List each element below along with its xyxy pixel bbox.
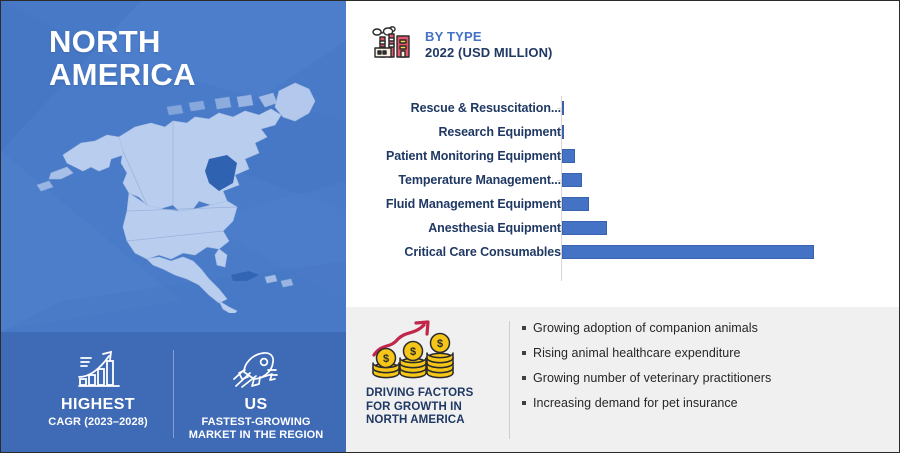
bar-value[interactable]: [562, 221, 607, 235]
bar-row: Critical Care Consumables: [346, 240, 899, 264]
list-item: Growing adoption of companion animals: [522, 321, 882, 346]
bar-value[interactable]: [562, 245, 814, 259]
bullet-square-icon: [522, 376, 526, 380]
stat-subline: FASTEST-GROWING MARKET IN THE REGION: [176, 416, 336, 442]
stats-divider: [173, 350, 174, 438]
driving-factors-list: Growing adoption of companion animals Ri…: [522, 321, 882, 421]
list-item-label: Growing adoption of companion animals: [533, 321, 758, 335]
region-title: NORTH AMERICA: [49, 25, 196, 91]
bar-chart-plot: Rescue & Resuscitation... Research Equip…: [346, 96, 899, 281]
bar-value[interactable]: [562, 197, 589, 211]
bar-row: Rescue & Resuscitation...: [346, 96, 899, 120]
list-item-label: Growing number of veterinary practitione…: [533, 371, 771, 385]
stat-headline: HIGHEST: [23, 396, 173, 414]
bar-value[interactable]: [562, 173, 582, 187]
list-item-label: Increasing demand for pet insurance: [533, 396, 738, 410]
chart-header: BY TYPE 2022 (USD MILLION): [371, 21, 552, 70]
driving-factors-panel: $ $: [346, 307, 899, 453]
chart-title: BY TYPE: [425, 30, 552, 45]
list-item-label: Rising animal healthcare expenditure: [533, 346, 740, 360]
bar-value[interactable]: [562, 149, 575, 163]
list-item: Rising animal healthcare expenditure: [522, 346, 882, 371]
list-item: Growing number of veterinary practitione…: [522, 371, 882, 396]
svg-text:$: $: [437, 338, 443, 350]
driving-factors-title: DRIVING FACTORS FOR GROWTH IN NORTH AMER…: [366, 387, 496, 428]
svg-text:$: $: [383, 353, 389, 365]
bar-value[interactable]: [562, 101, 564, 115]
bar-row: Anesthesia Equipment: [346, 216, 899, 240]
chart-subtitle: 2022 (USD MILLION): [425, 46, 552, 61]
coins-growth-icon: $ $: [366, 319, 496, 381]
bar-row: Patient Monitoring Equipment: [346, 144, 899, 168]
bullet-square-icon: [522, 326, 526, 330]
region-panel: NORTH AMERICA: [1, 1, 346, 453]
stat-subline: CAGR (2023–2028): [23, 416, 173, 429]
rocket-icon: [176, 342, 336, 390]
north-america-map-icon: [23, 63, 343, 313]
drivers-divider: [509, 321, 510, 439]
north-america-map-svg: [23, 63, 343, 313]
list-item: Increasing demand for pet insurance: [522, 396, 882, 421]
bar-row: Fluid Management Equipment: [346, 192, 899, 216]
bullet-square-icon: [522, 351, 526, 355]
infographic-root: NORTH AMERICA: [0, 0, 900, 453]
bar-row: Research Equipment: [346, 120, 899, 144]
stat-headline: US: [176, 396, 336, 414]
region-stats-strip: HIGHEST CAGR (2023–2028): [1, 332, 346, 453]
stat-fastest-growing: US FASTEST-GROWING MARKET IN THE REGION: [176, 342, 336, 442]
stat-highest-cagr: HIGHEST CAGR (2023–2028): [23, 342, 173, 429]
bar-value[interactable]: [562, 125, 564, 139]
growth-bar-chart-arrow-icon: [23, 342, 173, 390]
svg-text:$: $: [410, 346, 416, 358]
chart-panel: BY TYPE 2022 (USD MILLION) Rescue & Resu…: [346, 1, 899, 307]
driving-factors-heading-group: $ $: [366, 319, 496, 428]
bar-row: Temperature Management...: [346, 168, 899, 192]
bullet-square-icon: [522, 401, 526, 405]
factory-icon: [371, 21, 415, 70]
